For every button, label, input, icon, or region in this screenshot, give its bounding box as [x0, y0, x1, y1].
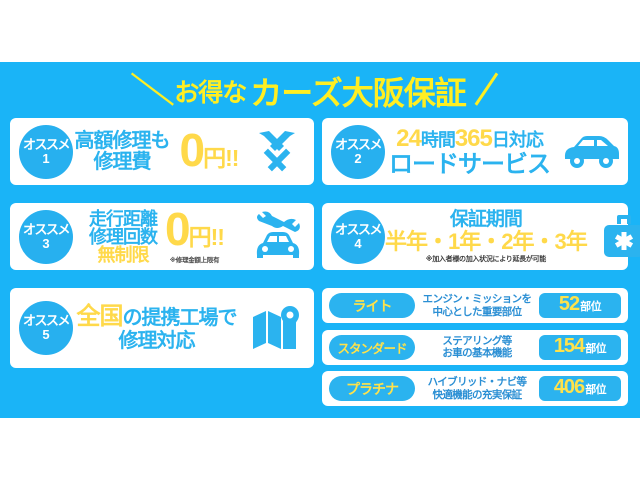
plan-description: エンジン・ミッションを 中心とした重要部位: [415, 293, 539, 317]
feature-5-nationwide: 全国: [77, 303, 123, 330]
plan-desc-line2: お車の基本機能: [418, 347, 536, 359]
recommend-badge-1: オススメ 1: [19, 125, 73, 179]
feature-card-1: オススメ 1 高額修理も 修理費 0 円!!: [10, 118, 314, 185]
feature-5-line2: 修理対応: [77, 330, 237, 352]
slash-left-decoration: ＼: [131, 74, 176, 108]
feature-card-5: オススメ 5 全国の提携工場で 修理対応: [10, 288, 314, 368]
badge-number: 1: [42, 152, 49, 166]
plan-row-standard[interactable]: スタンダード ステアリング等 お車の基本機能 154 部位: [322, 330, 628, 365]
plan-desc-line2: 快適機能の充実保証: [418, 389, 536, 401]
plan-count-unit: 部位: [585, 381, 606, 397]
plan-desc-line1: ステアリング等: [418, 335, 536, 347]
feature-3-amount-unit: 円!!: [189, 218, 224, 252]
recommend-badge-2: オススメ 2: [331, 125, 385, 179]
hammer-chisel-icon: [240, 129, 314, 175]
plan-name-badge: プラチナ: [329, 376, 415, 401]
advertisement-banner: ＼ お得な カーズ大阪保証 ／ オススメ 1 高額修理も 修理費 0: [0, 0, 640, 480]
badge-number: 5: [42, 328, 49, 342]
plan-count-unit: 部位: [580, 298, 601, 314]
recommend-badge-5: オススメ 5: [19, 301, 73, 355]
feature-1-amount-unit: 円!!: [203, 139, 238, 173]
feature-5-line1: 全国の提携工場で: [77, 304, 237, 330]
plan-coverage-count: 406 部位: [539, 376, 621, 401]
recommend-badge-3: オススメ 3: [19, 210, 73, 264]
badge-number: 3: [42, 237, 49, 251]
plan-count-number: 406: [554, 376, 584, 399]
feature-card-4: オススメ 4 保証期間 半年・1年・2年・3年 ※加入者様の加入状況により延長が…: [322, 203, 628, 270]
feature-4-note: ※加入者様の加入状況により延長が可能: [385, 256, 587, 263]
feature-3-line2: 修理回数: [89, 228, 157, 246]
badge-label: オススメ: [23, 223, 69, 237]
feature-2-hours-unit: 時間: [421, 130, 455, 150]
badge-label: オススメ: [335, 138, 381, 152]
feature-3-amount: 0: [165, 209, 189, 250]
plan-row-platinum[interactable]: プラチナ ハイブリッド・ナビ等 快適機能の充実保証 406 部位: [322, 371, 628, 406]
badge-number: 4: [354, 237, 361, 251]
feature-2-line2: ロードサービス: [389, 152, 550, 177]
wrench-car-icon: [240, 211, 314, 263]
plan-count-number: 52: [559, 293, 579, 316]
badge-label: オススメ: [335, 223, 381, 237]
plan-coverage-count: 154 部位: [539, 335, 621, 360]
feature-1-line1: 高額修理も: [75, 131, 170, 152]
plan-count-unit: 部位: [585, 340, 606, 356]
plan-desc-line1: エンジン・ミッションを: [418, 293, 536, 305]
plan-row-light[interactable]: ライト エンジン・ミッションを 中心とした重要部位 52 部位: [322, 288, 628, 323]
feature-3-line1: 走行距離: [89, 210, 157, 228]
plan-count-number: 154: [554, 335, 584, 358]
feature-3-line3: 無制限: [89, 246, 157, 264]
plan-description: ハイブリッド・ナビ等 快適機能の充実保証: [415, 376, 539, 400]
feature-5-line1-rest: の提携工場で: [123, 307, 237, 329]
plan-desc-line2: 中心とした重要部位: [418, 306, 536, 318]
car-side-icon: [554, 134, 628, 170]
feature-card-2: オススメ 2 24時間365日対応 ロードサービス: [322, 118, 628, 185]
feature-1-amount: 0: [180, 130, 204, 171]
feature-card-3: オススメ 3 走行距離 修理回数 無制限 0 円!! ※修理金額上限有: [10, 203, 314, 270]
medical-case-icon: [587, 215, 640, 259]
recommend-badge-4: オススメ 4: [331, 210, 385, 264]
feature-4-line1: 保証期間: [385, 210, 587, 230]
plan-desc-line1: ハイブリッド・ナビ等: [418, 376, 536, 388]
page-title: ＼ お得な カーズ大阪保証 ／: [0, 68, 640, 114]
feature-2-line1: 24時間365日対応: [389, 126, 550, 151]
feature-1-line2: 修理費: [75, 152, 170, 173]
badge-number: 2: [354, 152, 361, 166]
plan-list: ライト エンジン・ミッションを 中心とした重要部位 52 部位 スタンダード ス…: [322, 288, 628, 406]
badge-label: オススメ: [23, 314, 69, 328]
plan-name-badge: スタンダード: [329, 335, 415, 360]
plan-coverage-count: 52 部位: [539, 293, 621, 318]
feature-2-days-unit: 日対応: [492, 130, 543, 150]
map-pin-icon: [240, 305, 314, 351]
cyan-banner-area: ＼ お得な カーズ大阪保証 ／ オススメ 1 高額修理も 修理費 0: [0, 62, 640, 418]
plan-name-badge: ライト: [329, 293, 415, 318]
feature-2-days: 365: [455, 125, 492, 152]
feature-2-hours: 24: [396, 125, 421, 152]
slash-right-decoration: ／: [464, 74, 509, 108]
feature-4-line2: 半年・1年・2年・3年: [385, 230, 587, 253]
headline-main: カーズ大阪保証: [250, 68, 465, 114]
headline-prefix: お得な: [174, 73, 246, 109]
plan-description: ステアリング等 お車の基本機能: [415, 335, 539, 359]
badge-label: オススメ: [23, 138, 69, 152]
feature-3-note: ※修理金額上限有: [165, 254, 224, 264]
